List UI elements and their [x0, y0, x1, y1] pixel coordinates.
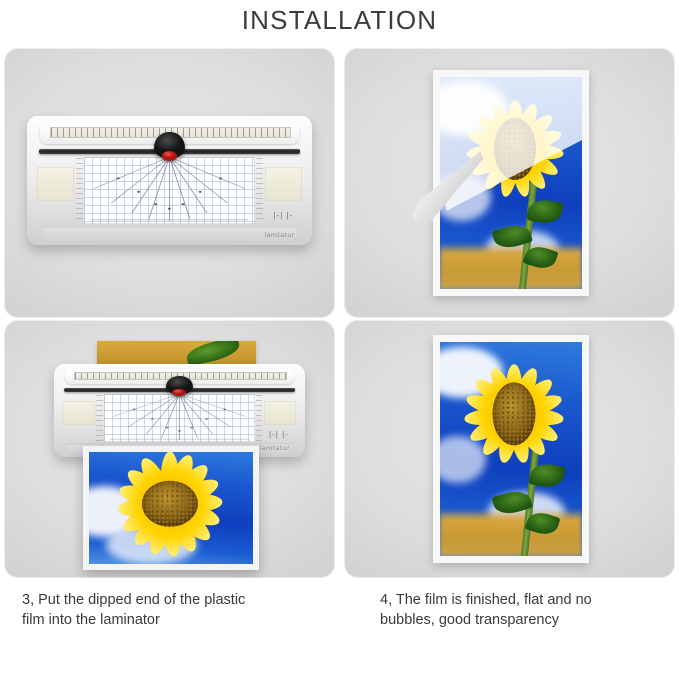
step-2-illustration-panel	[344, 48, 675, 318]
step-card-2: 2, Put the photos that need to be sealed…	[344, 48, 675, 320]
machine-control-icon: |-| |-	[269, 430, 289, 439]
sunflower-center	[494, 118, 536, 180]
sunflower-bloom	[457, 357, 570, 470]
machine-control-icon: |-| |-	[274, 211, 294, 220]
step-card-1: |-| |- lamtatur 1, Prepare the plastic m…	[4, 48, 335, 320]
laminator-machine: |-| |- lamtatur	[54, 364, 306, 457]
sunflower-center	[492, 382, 535, 445]
machine-pad-right	[265, 167, 302, 201]
sunflower-bloom	[460, 94, 570, 205]
machine-pad-left	[37, 167, 74, 201]
step-card-3: 3, Put the dipped end of the plastic fil…	[4, 320, 335, 592]
machine-scale-right	[256, 158, 263, 223]
mat-angle-lines	[84, 157, 255, 224]
caption-line: 4, The film is finished, flat and no	[380, 590, 670, 610]
caption-line: bubbles, good transparency	[380, 610, 670, 630]
machine-scale-left	[96, 395, 103, 441]
laminator-machine: |-| |- lamtatur	[27, 116, 312, 246]
machine-cutting-mat	[104, 394, 255, 442]
machine-pad-right	[264, 401, 297, 425]
machine-scale-left	[76, 158, 83, 223]
finished-photo-frame	[433, 335, 589, 562]
machine-scale-right	[256, 395, 263, 441]
step-3-caption: 3, Put the dipped end of the plastic fil…	[22, 590, 322, 630]
caption-line: film into the laminator	[22, 610, 322, 630]
mat-angle-lines	[104, 394, 255, 442]
sunflower-photo	[89, 452, 252, 564]
caption-line: 3, Put the dipped end of the plastic	[22, 590, 322, 610]
page-title: INSTALLATION	[0, 0, 679, 40]
output-laminated-photo	[83, 446, 258, 570]
steps-grid: |-| |- lamtatur 1, Prepare the plastic m…	[4, 48, 675, 688]
machine-brand-logo: lamtatur	[264, 231, 294, 239]
wheat-field	[440, 509, 582, 556]
step-3-illustration-panel: |-| |- lamtatur	[4, 320, 335, 578]
machine-cutting-mat	[84, 157, 255, 224]
sunflower-center	[141, 481, 197, 528]
sunflower-bloom	[99, 452, 240, 562]
machine-front-tray	[41, 226, 297, 243]
machine-red-knob[interactable]	[162, 151, 177, 161]
sunflower-photo	[440, 342, 582, 555]
machine-brand-logo: lamtatur	[260, 444, 290, 452]
photo-frame-with-film	[433, 70, 589, 297]
wheat-field	[440, 243, 582, 290]
step-card-4: 4, The film is finished, flat and no bub…	[344, 320, 675, 592]
step-4-illustration-panel	[344, 320, 675, 578]
machine-pad-left	[62, 401, 95, 425]
step-4-caption: 4, The film is finished, flat and no bub…	[380, 590, 670, 630]
step-1-illustration-panel: |-| |- lamtatur	[4, 48, 335, 318]
